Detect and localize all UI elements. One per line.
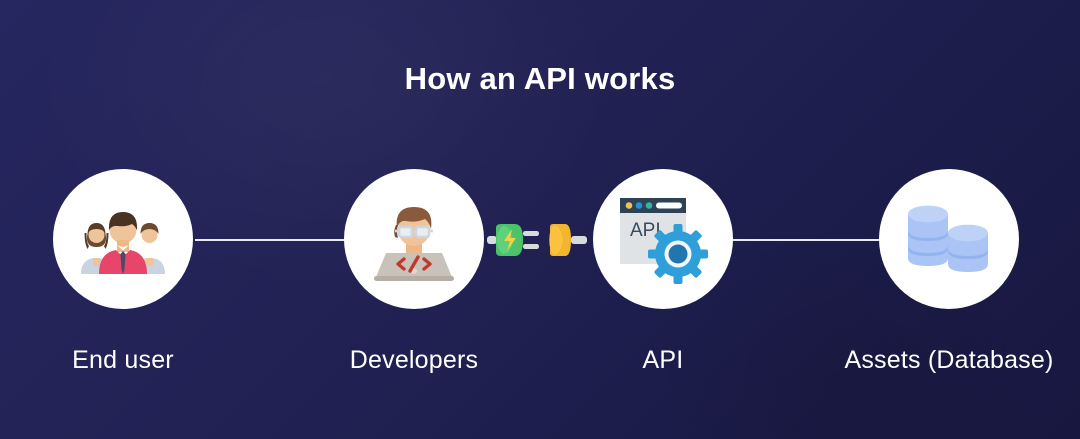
node-label-api: API xyxy=(513,346,813,375)
node-label-assets-database: Assets (Database) xyxy=(799,346,1080,375)
browser-dot-blue xyxy=(636,202,643,209)
connector-end-user-to-developers xyxy=(195,239,345,241)
node-label-end-user: End user xyxy=(0,346,273,375)
developer-at-laptop-icon xyxy=(344,169,484,309)
browser-dot-teal xyxy=(646,202,653,209)
api-diagram-canvas: How an API works xyxy=(0,0,1080,439)
browser-dot-yellow xyxy=(626,202,633,209)
connector-api-to-assets xyxy=(733,239,881,241)
plug-socket-connector xyxy=(487,214,587,266)
database-stack-icon xyxy=(879,169,1019,309)
group-of-users-icon xyxy=(53,169,193,309)
browser-url-bar xyxy=(656,203,682,209)
page-title: How an API works xyxy=(0,61,1080,97)
api-browser-window-gear-icon: API xyxy=(593,169,733,309)
